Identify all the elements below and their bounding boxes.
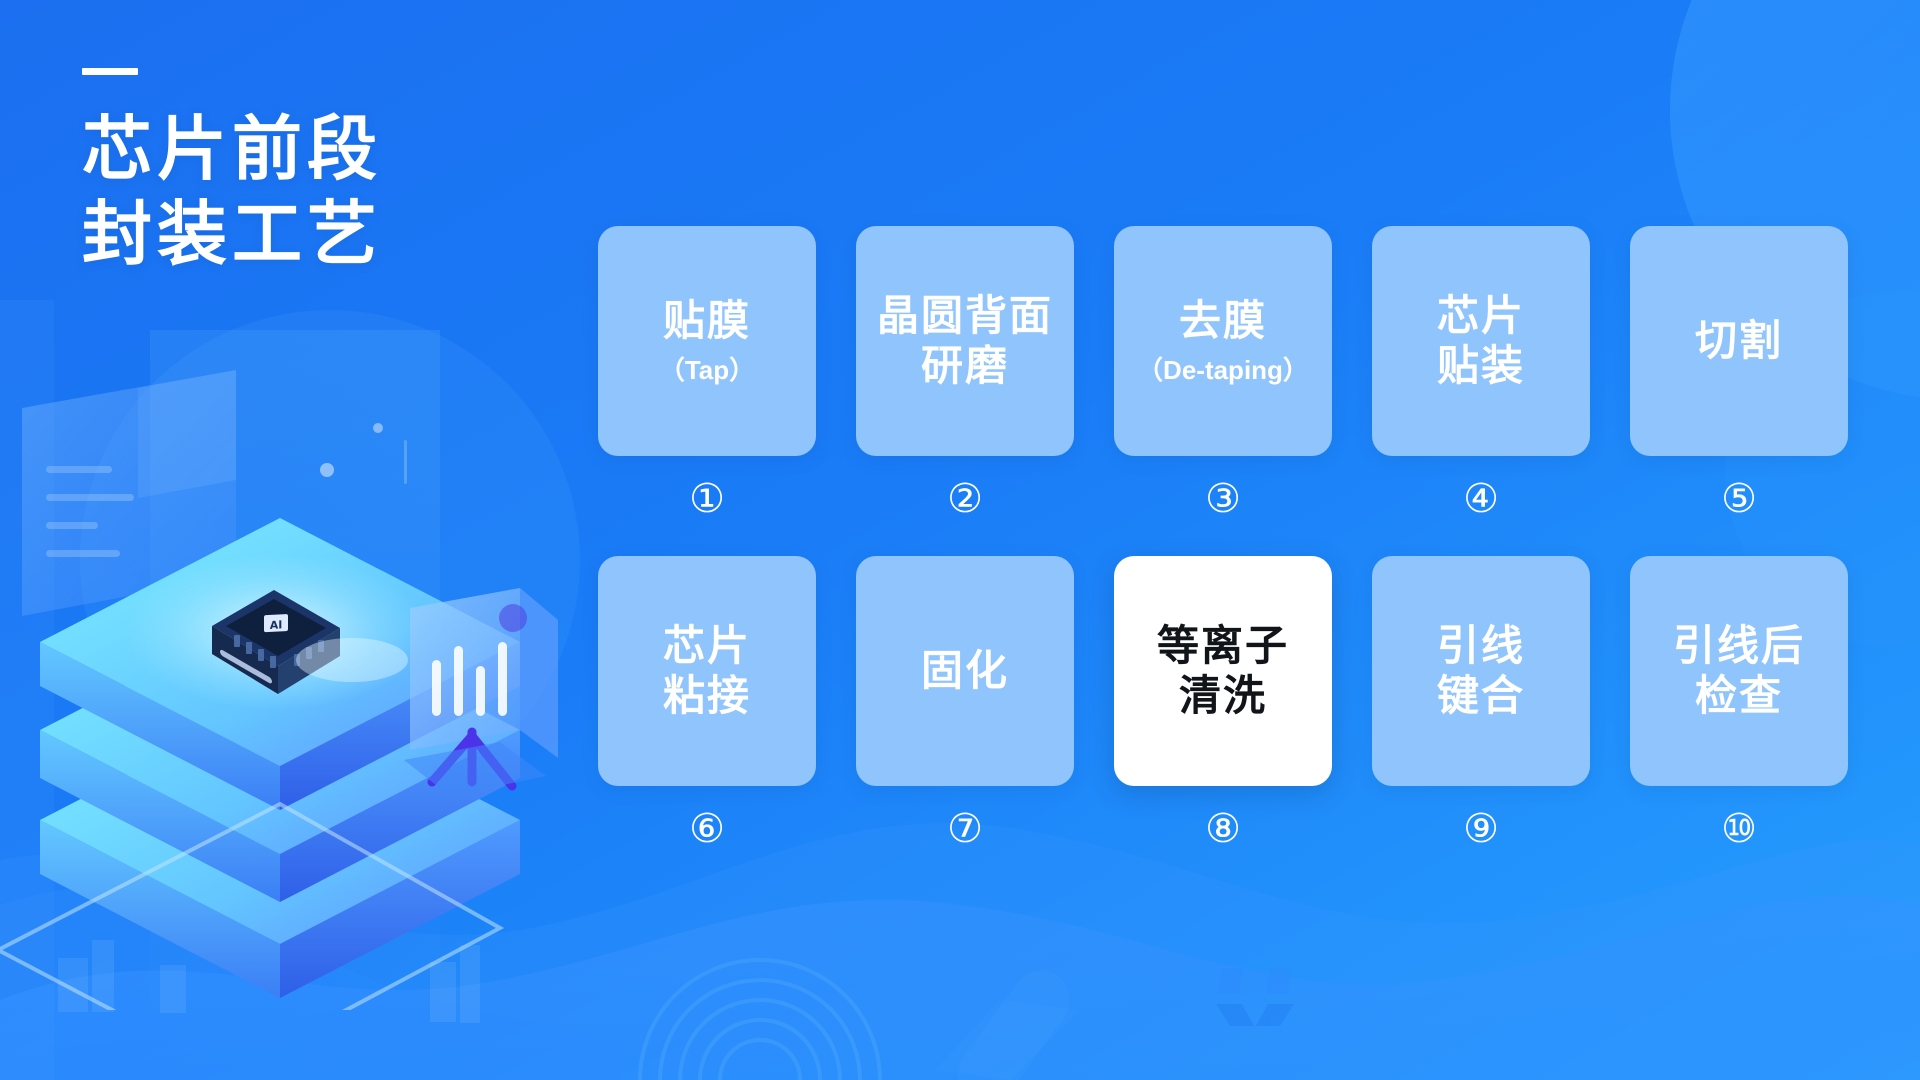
- slide-canvas: 芯片前段 封装工艺: [0, 0, 1920, 1080]
- process-step-number: ⑧: [1202, 808, 1244, 850]
- process-card-title: 贴膜: [663, 296, 751, 346]
- process-step-number: ⑩: [1718, 808, 1760, 850]
- process-card-6[interactable]: 芯片 粘接: [598, 556, 816, 786]
- process-step-7[interactable]: 固化 ⑦: [856, 556, 1074, 850]
- process-card-title: 芯片 粘接: [663, 621, 751, 720]
- process-step-number: ③: [1202, 478, 1244, 520]
- process-card-3[interactable]: 去膜 （De-taping）: [1114, 226, 1332, 456]
- process-step-1[interactable]: 贴膜 （Tap） ①: [598, 226, 816, 520]
- title-dash-decoration: [82, 68, 138, 75]
- process-step-2[interactable]: 晶圆背面 研磨 ②: [856, 226, 1074, 520]
- title-line-2: 封装工艺: [82, 192, 512, 277]
- process-card-8-active[interactable]: 等离子 清洗: [1114, 556, 1332, 786]
- process-card-7[interactable]: 固化: [856, 556, 1074, 786]
- process-card-title: 等离子 清洗: [1157, 621, 1289, 720]
- process-card-2[interactable]: 晶圆背面 研磨: [856, 226, 1074, 456]
- process-card-title: 芯片 贴装: [1437, 291, 1525, 390]
- process-step-5[interactable]: 切割 ⑤: [1630, 226, 1848, 520]
- process-card-title: 引线后 检查: [1673, 621, 1805, 720]
- process-card-title: 切割: [1695, 316, 1783, 366]
- process-card-1[interactable]: 贴膜 （Tap）: [598, 226, 816, 456]
- process-card-title: 晶圆背面 研磨: [877, 291, 1053, 390]
- process-step-number: ④: [1460, 478, 1502, 520]
- process-step-number: ⑥: [686, 808, 728, 850]
- process-card-4[interactable]: 芯片 贴装: [1372, 226, 1590, 456]
- page-title: 芯片前段 封装工艺: [82, 68, 512, 278]
- process-card-title: 引线 键合: [1437, 621, 1525, 720]
- process-step-3[interactable]: 去膜 （De-taping） ③: [1114, 226, 1332, 520]
- process-step-9[interactable]: 引线 键合 ⑨: [1372, 556, 1590, 850]
- process-step-10[interactable]: 引线后 检查 ⑩: [1630, 556, 1848, 850]
- process-card-title: 去膜: [1179, 296, 1267, 346]
- process-card-10[interactable]: 引线后 检查: [1630, 556, 1848, 786]
- process-step-number: ⑦: [944, 808, 986, 850]
- process-step-6[interactable]: 芯片 粘接 ⑥: [598, 556, 816, 850]
- process-step-8[interactable]: 等离子 清洗 ⑧: [1114, 556, 1332, 850]
- process-step-number: ⑤: [1718, 478, 1760, 520]
- chip-label: AI: [270, 618, 283, 632]
- process-step-number: ⑨: [1460, 808, 1502, 850]
- process-card-subtitle: （Tap）: [659, 355, 755, 386]
- process-card-9[interactable]: 引线 键合: [1372, 556, 1590, 786]
- process-card-title: 固化: [921, 646, 1009, 696]
- process-card-5[interactable]: 切割: [1630, 226, 1848, 456]
- process-card-subtitle: （De-taping）: [1137, 355, 1309, 386]
- process-grid: 贴膜 （Tap） ① 晶圆背面 研磨 ② 去膜 （De-taping） ③: [598, 226, 1888, 850]
- process-row-2: 芯片 粘接 ⑥ 固化 ⑦ 等离子 清洗 ⑧ 引线 键合 ⑨: [598, 556, 1888, 850]
- process-step-4[interactable]: 芯片 贴装 ④: [1372, 226, 1590, 520]
- process-step-number: ②: [944, 478, 986, 520]
- isometric-chip-illustration: AI: [0, 330, 600, 1010]
- process-step-number: ①: [686, 478, 728, 520]
- title-line-1: 芯片前段: [82, 107, 512, 192]
- process-row-1: 贴膜 （Tap） ① 晶圆背面 研磨 ② 去膜 （De-taping） ③: [598, 226, 1888, 520]
- chart-easel: [404, 588, 558, 796]
